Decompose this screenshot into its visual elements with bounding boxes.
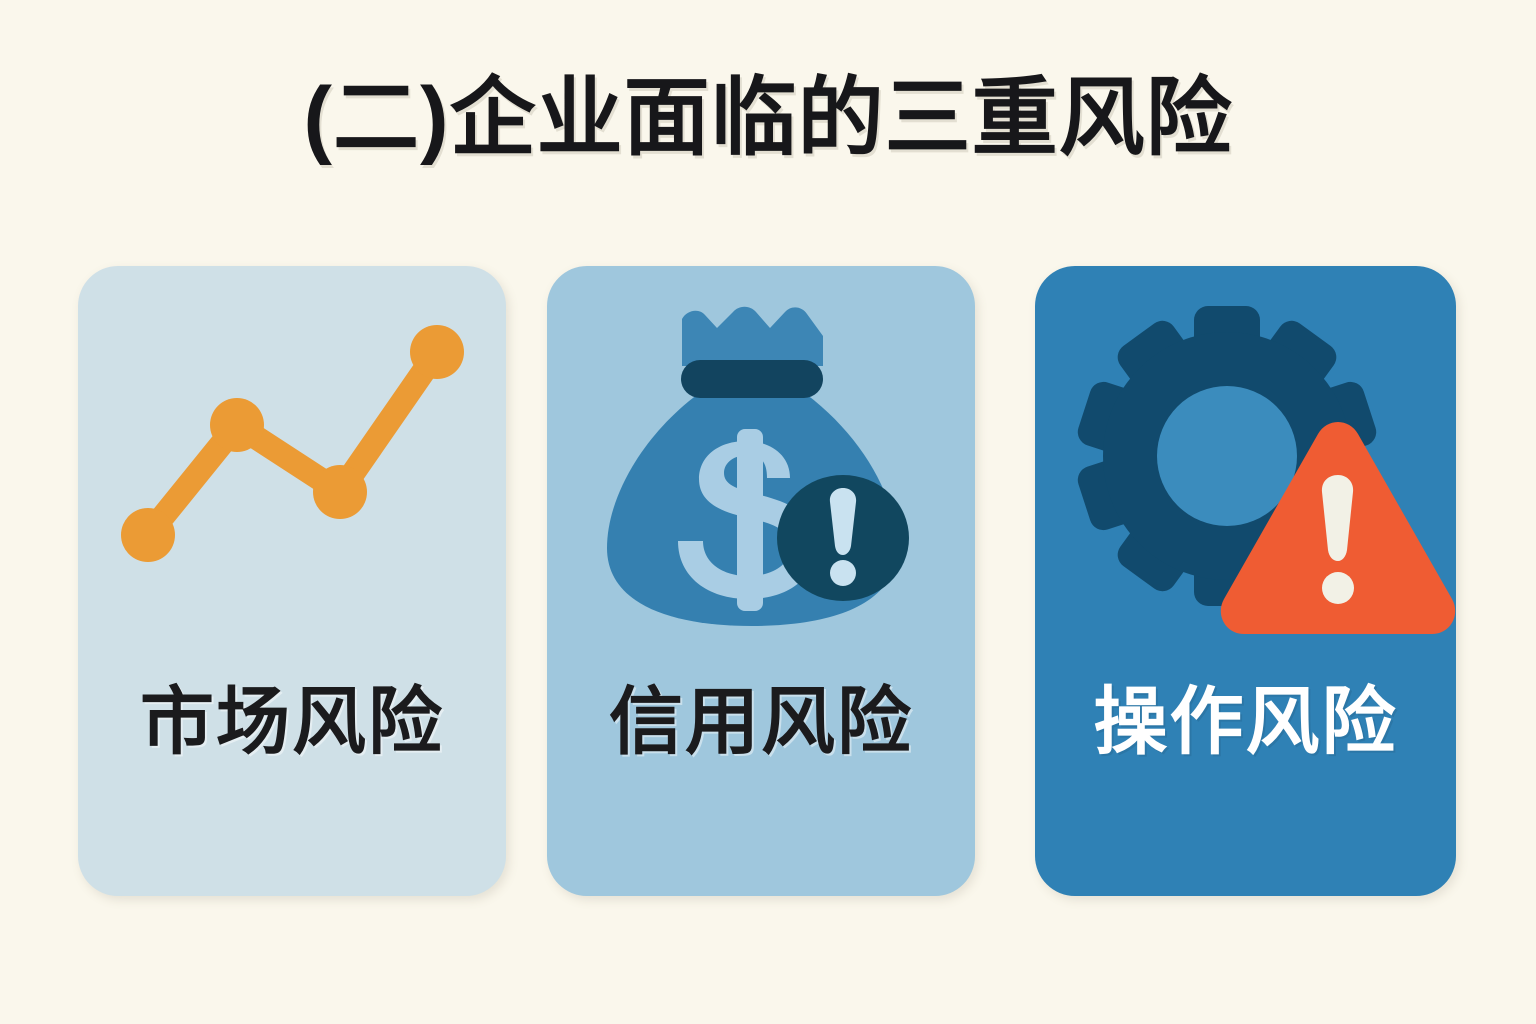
risk-card-market-label: 市场风险 [78, 674, 506, 770]
operational-risk-icon-area [1035, 266, 1456, 666]
money-bag-tie-band [681, 360, 823, 398]
credit-risk-icon-area [547, 266, 975, 666]
risk-card-operational-label: 操作风险 [1035, 674, 1456, 770]
risk-card-market[interactable]: 市场风险 [78, 266, 506, 896]
gear-hole [1157, 386, 1297, 526]
market-risk-icon-area [78, 266, 506, 666]
gear-warning-icon [1035, 266, 1456, 666]
alert-badge-icon [777, 475, 909, 601]
risk-card-credit-label: 信用风险 [547, 674, 975, 770]
page-title: (二)企业面临的三重风险 [0, 62, 1536, 174]
slide-root: (二)企业面临的三重风险 市场风险 [0, 0, 1536, 1024]
risk-card-row: 市场风险 [0, 266, 1536, 896]
money-bag-top [682, 307, 823, 366]
risk-card-operational[interactable]: 操作风险 [1035, 266, 1456, 896]
risk-card-credit[interactable]: 信用风险 [547, 266, 975, 896]
line-chart-icon [78, 266, 506, 666]
money-bag-alert-icon [547, 266, 975, 666]
